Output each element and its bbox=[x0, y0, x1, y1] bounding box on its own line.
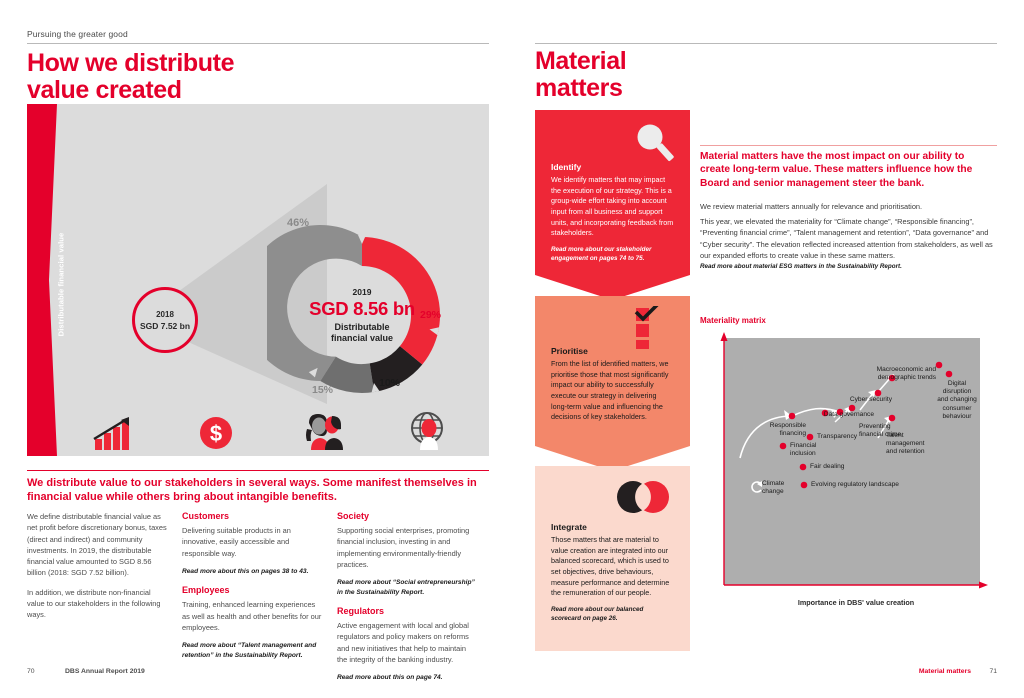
banner-readmore-integrate[interactable]: Read more about our balanced scorecard o… bbox=[551, 606, 674, 624]
two-people-icon bbox=[301, 409, 393, 451]
footer-right: Material matters71 bbox=[919, 668, 997, 675]
value-legend: 46% Shareholders Dividends paid to ordin… bbox=[93, 409, 489, 456]
matrix-point-talent-management bbox=[889, 415, 896, 422]
heading-customers: Customers bbox=[182, 511, 323, 521]
matrix-label-fair-dealing: Fair dealing bbox=[810, 463, 844, 471]
right-lead-divider bbox=[700, 145, 997, 146]
donut-label-29: 29% bbox=[420, 309, 441, 321]
heading-regulators: Regulators bbox=[337, 606, 475, 616]
text-employees: Training, enhanced learning experiences … bbox=[182, 599, 323, 633]
donut-label-46: 46% bbox=[287, 217, 309, 229]
prev-year-badge: 2018 SGD 7.52 bn bbox=[132, 287, 198, 353]
text-society: Supporting social enterprises, promoting… bbox=[337, 525, 475, 570]
page-number-left: 70 bbox=[27, 668, 65, 675]
distributable-value-arrow bbox=[27, 104, 57, 456]
readmore-customers[interactable]: Read more about this on pages 38 to 43. bbox=[182, 567, 323, 577]
right-paragraph-1: We review material matters annually for … bbox=[700, 201, 997, 212]
process-banner-integrate: Integrate Those matters that are materia… bbox=[535, 466, 690, 651]
prev-year-value: SGD 7.52 bn bbox=[140, 321, 190, 331]
elevated-marker-icon bbox=[750, 480, 764, 494]
heading-society: Society bbox=[337, 511, 475, 521]
legend-item-society: 15% Society Contributions to society thr… bbox=[405, 409, 489, 456]
matrix-point-transparency bbox=[807, 434, 814, 441]
footer-section-name: Material matters bbox=[919, 668, 971, 675]
matrix-point-elevated-a bbox=[789, 413, 796, 420]
legend-item-shareholders: 46% Shareholders Dividends paid to ordin… bbox=[93, 409, 197, 456]
matrix-label-digital-disruption: Digital disruption and changing consumer… bbox=[932, 380, 982, 421]
readmore-employees[interactable]: Read more about “Talent management and r… bbox=[182, 641, 323, 660]
donut-label-15: 15% bbox=[312, 384, 333, 396]
readmore-regulators[interactable]: Read more about this on page 74. bbox=[337, 673, 475, 683]
page-number-right: 71 bbox=[971, 668, 997, 675]
right-lead: Material matters have the most impact on… bbox=[700, 150, 997, 190]
matrix-label-cyber-security: Cyber security bbox=[836, 396, 892, 404]
heading-employees: Employees bbox=[182, 585, 323, 595]
process-banner-prioritise: Prioritise From the list of identified m… bbox=[535, 296, 690, 471]
donut-subtitle: Distributable financial value bbox=[331, 322, 393, 344]
matrix-point-digital-disruption bbox=[946, 371, 953, 378]
matrix-point-financial-inclusion bbox=[780, 443, 787, 450]
materiality-matrix-title: Materiality matrix bbox=[700, 316, 766, 325]
matrix-label-talent-management: Talent management and retention bbox=[886, 432, 942, 457]
right-header-divider bbox=[535, 43, 997, 44]
right-readmore[interactable]: Read more about material ESG matters in … bbox=[700, 263, 997, 270]
value-distribution-infographic: Distributable financial value 2018 SGD 7… bbox=[27, 104, 489, 456]
right-page-title: Material matters bbox=[535, 48, 715, 102]
page-title: How we distribute value created bbox=[27, 50, 357, 104]
process-banner-identify: Identify We identify matters that may im… bbox=[535, 110, 690, 300]
dollar-coin-icon: $ bbox=[197, 409, 289, 451]
matrix-point-fair-dealing bbox=[800, 464, 807, 471]
header-divider bbox=[27, 43, 489, 44]
prev-year-label: 2018 bbox=[156, 310, 174, 319]
matrix-svg bbox=[700, 330, 990, 615]
text-customers: Delivering suitable products in an innov… bbox=[182, 525, 323, 559]
matrix-label-data-governance: Data governance bbox=[810, 411, 874, 419]
matrix-label-transparency: Transparency bbox=[817, 433, 857, 441]
globe-person-icon bbox=[405, 409, 489, 451]
matrix-label-evolving-regulatory-landscape: Evolving regulatory landscape bbox=[811, 481, 899, 489]
intro-paragraph-1: We define distributable financial value … bbox=[27, 511, 168, 579]
banner-heading-integrate: Integrate bbox=[551, 522, 674, 532]
text-regulators: Active engagement with local and global … bbox=[337, 620, 475, 665]
matrix-point-macroeconomic bbox=[936, 362, 943, 369]
footer-left: 70DBS Annual Report 2019 bbox=[27, 668, 145, 675]
bar-chart-growth-icon bbox=[93, 409, 185, 451]
intro-paragraph-2: In addition, we distribute non-financial… bbox=[27, 587, 168, 621]
matrix-label-macroeconomic: Macroeconomic and demographic trends bbox=[870, 366, 936, 382]
banner-text-prioritise: From the list of identified matters, we … bbox=[551, 359, 674, 423]
stakeholder-columns: We define distributable financial value … bbox=[27, 511, 489, 692]
materiality-matrix: Importance to stakeholders Importance in… bbox=[700, 330, 990, 615]
donut-label-10: 10% bbox=[379, 377, 400, 389]
column-intro: We define distributable financial value … bbox=[27, 511, 182, 692]
banner-text-integrate: Those matters that are material to value… bbox=[551, 535, 674, 599]
banner-heading-identify: Identify bbox=[551, 162, 674, 172]
section-divider bbox=[27, 470, 489, 471]
section-kicker: Pursuing the greater good bbox=[27, 29, 128, 39]
legend-item-employees: 10% Employees Discretionary bonus paid t… bbox=[301, 409, 405, 456]
right-paragraph-2: This year, we elevated the materiality f… bbox=[700, 216, 997, 262]
banner-text-identify: We identify matters that may impact the … bbox=[551, 175, 674, 239]
footer-report-title: DBS Annual Report 2019 bbox=[65, 668, 145, 675]
matrix-label-responsible-financing: Responsible financing bbox=[748, 422, 806, 438]
banner-heading-prioritise: Prioritise bbox=[551, 346, 674, 356]
banner-readmore-identify[interactable]: Read more about our stakeholder engageme… bbox=[551, 246, 674, 264]
svg-text:$: $ bbox=[210, 421, 222, 446]
donut-amount: SGD 8.56 bn bbox=[309, 298, 415, 320]
matrix-label-climate-change: Climate change bbox=[762, 480, 802, 496]
left-page: Pursuing the greater good How we distrib… bbox=[0, 0, 512, 698]
section-lead: We distribute value to our stakeholders … bbox=[27, 476, 489, 505]
column-society-regulators: Society Supporting social enterprises, p… bbox=[337, 511, 489, 692]
matrix-label-financial-inclusion: Financial inclusion bbox=[790, 442, 834, 458]
column-customers-employees: Customers Delivering suitable products i… bbox=[182, 511, 337, 692]
donut-year: 2019 bbox=[353, 287, 372, 297]
legend-item-retained-earnings: $ 29% Retained earnings Retained for bus… bbox=[197, 409, 301, 456]
readmore-society[interactable]: Read more about “Social entrepreneurship… bbox=[337, 578, 475, 597]
